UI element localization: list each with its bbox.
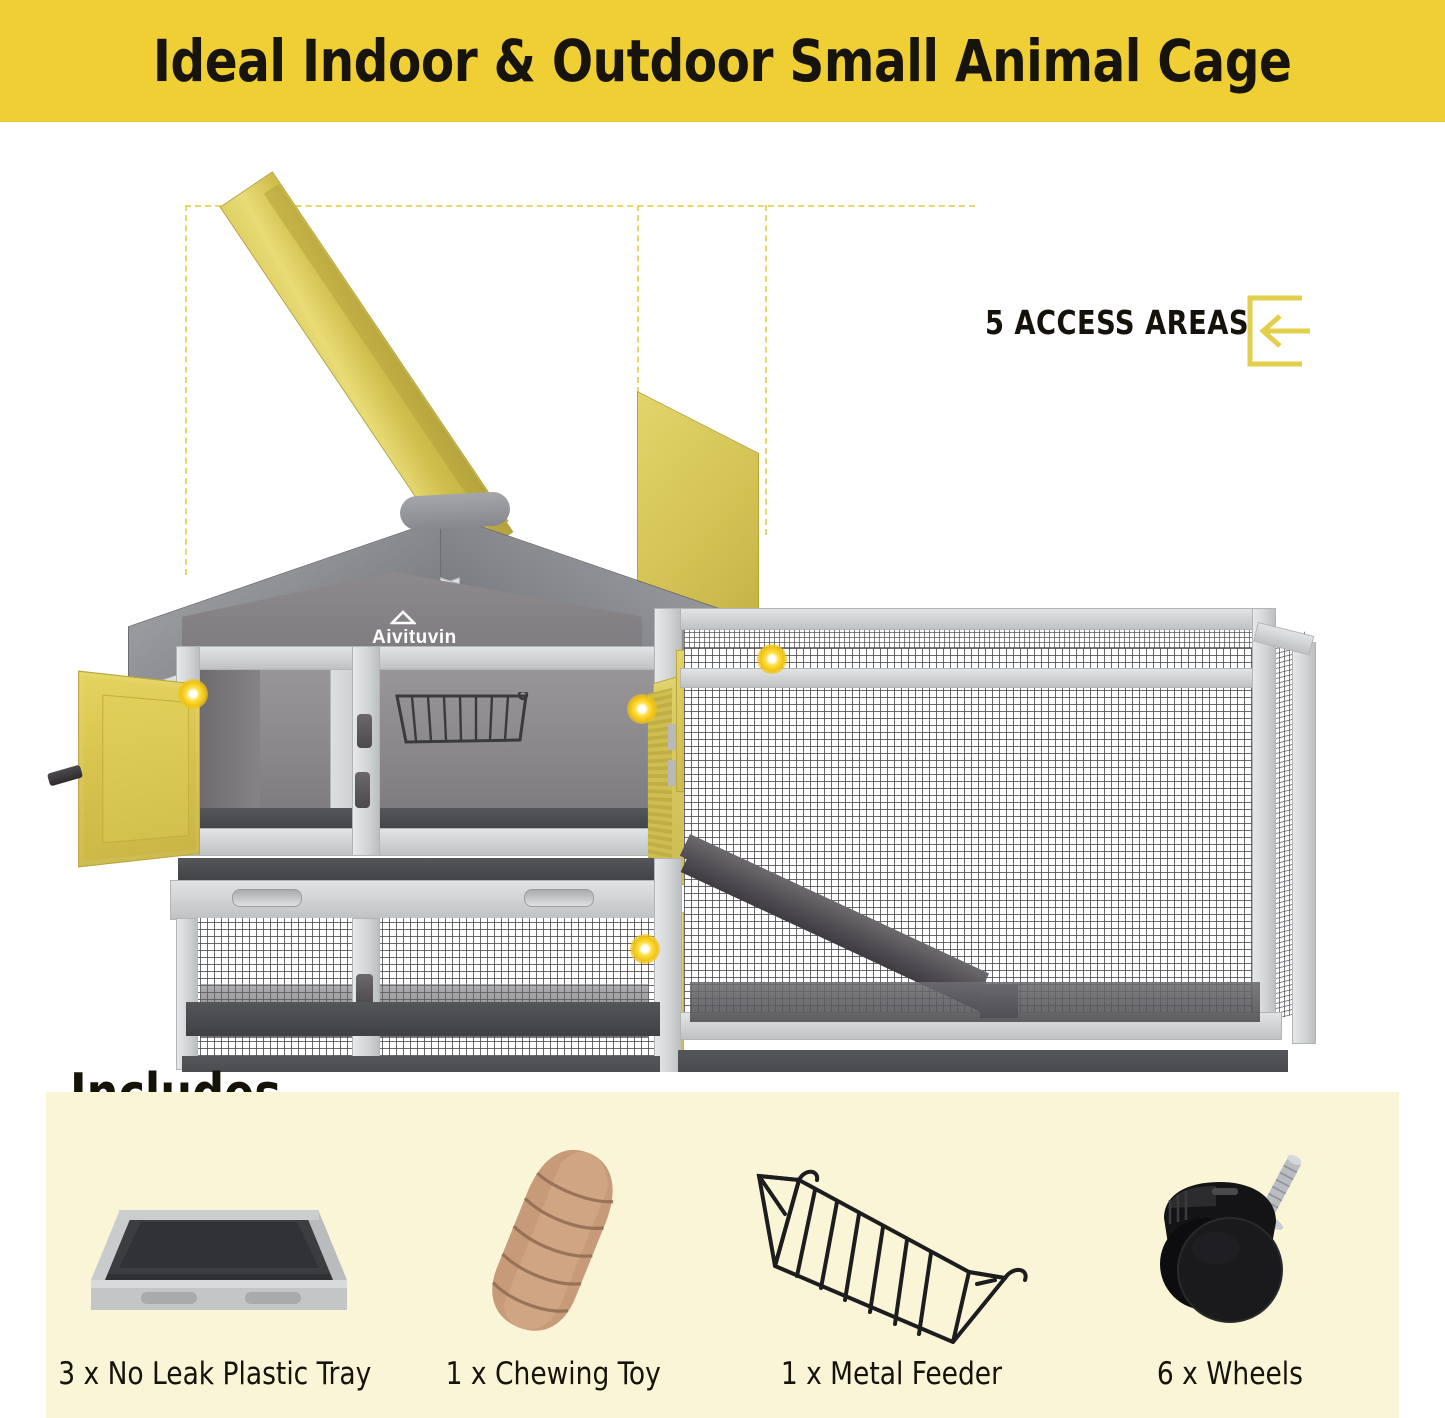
- access-marker-4: [630, 934, 660, 964]
- caster-wheel-icon: [1061, 1124, 1399, 1356]
- plastic-tray-icon: [46, 1124, 384, 1356]
- page-title: Ideal Indoor & Outdoor Small Animal Cage: [153, 27, 1292, 95]
- metal-feeder-installed: [394, 692, 529, 747]
- includes-item-wheels: 6 x Wheels: [1061, 1092, 1399, 1418]
- includes-items-row: 3 x No Leak Plastic Tray 1 x Chewin: [46, 1092, 1399, 1418]
- run-floor-tray: [690, 982, 1260, 1022]
- includes-item-label: 6 x Wheels: [1157, 1356, 1303, 1392]
- upper-front-top-rail: [176, 646, 678, 670]
- run-corner-post-near: [1292, 642, 1316, 1044]
- upper-interior-left-wall: [196, 658, 260, 808]
- upper-latch-top[interactable]: [357, 714, 372, 748]
- access-door-left-inner-panel: [102, 694, 189, 843]
- includes-item-plastic-tray: 3 x No Leak Plastic Tray: [46, 1092, 384, 1418]
- upper-floor-rail: [176, 828, 678, 856]
- product-hero: 5 ACCESS AREAS Aivituvin: [0, 122, 1445, 1072]
- roof-lid-open-edge: [264, 184, 514, 542]
- upper-center-post: [352, 646, 380, 856]
- run-corner-post-far: [1252, 608, 1276, 1030]
- header-banner: Ideal Indoor & Outdoor Small Animal Cage: [0, 0, 1445, 122]
- upper-drawer-handle-left[interactable]: [232, 889, 302, 907]
- chewing-toy-icon: [384, 1124, 722, 1356]
- run-top-rail: [680, 608, 1272, 630]
- metal-feeder-icon: [723, 1124, 1061, 1356]
- includes-item-metal-feeder: 1 x Metal Feeder: [723, 1092, 1061, 1418]
- lower-left-post: [176, 918, 198, 1070]
- includes-item-label: 3 x No Leak Plastic Tray: [59, 1356, 372, 1392]
- upper-latch-bottom[interactable]: [355, 772, 370, 808]
- lower-floor-tray: [186, 1002, 660, 1036]
- roof-ridge-cap: [399, 491, 511, 531]
- upper-drawer-handle-right[interactable]: [524, 889, 594, 907]
- includes-item-label: 1 x Metal Feeder: [781, 1356, 1002, 1392]
- includes-item-chewing-toy: 1 x Chewing Toy: [384, 1092, 722, 1418]
- brand-logo-roof-glyph: [390, 609, 416, 625]
- base-tray-right[interactable]: [678, 1050, 1288, 1072]
- lower-right-post: [654, 858, 682, 1072]
- rabbit-hutch-illustration: Aivituvin: [0, 122, 1445, 1072]
- access-marker-2: [627, 694, 657, 724]
- access-marker-3: [757, 644, 787, 674]
- includes-item-label: 1 x Chewing Toy: [446, 1356, 661, 1392]
